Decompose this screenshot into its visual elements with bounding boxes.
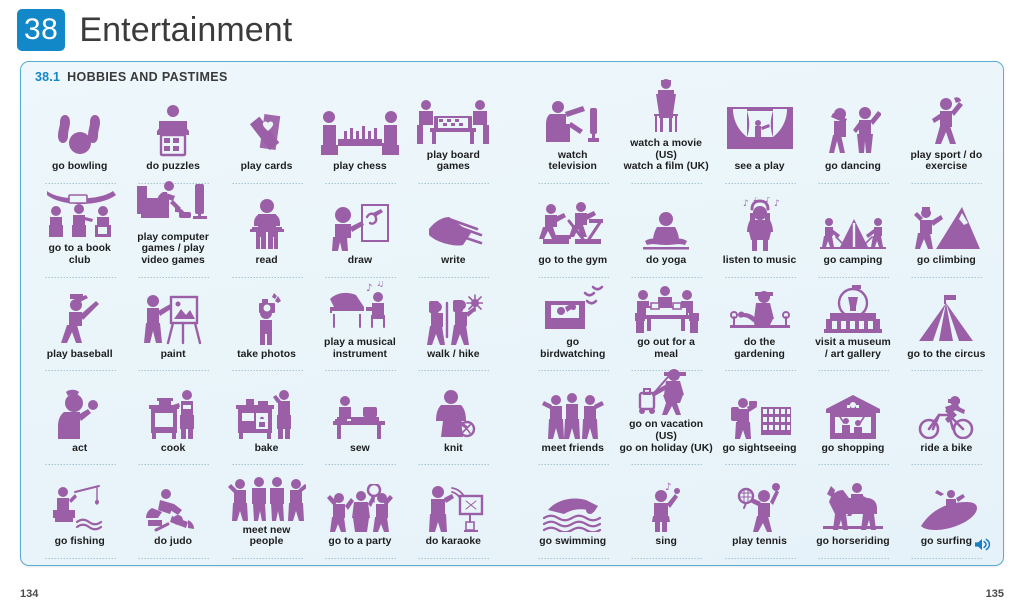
computer-games-icon [126, 178, 219, 228]
pictogram-label: do judo [154, 536, 192, 548]
pictogram-item[interactable]: play boardgames [407, 92, 500, 186]
pictogram-item[interactable]: go horseriding [806, 467, 899, 561]
pictogram-label: read [255, 255, 277, 267]
painting-icon [126, 289, 219, 345]
pictogram-label: watch a movie (US)watch a film (UK) [619, 138, 712, 173]
pictogram-label: go bowling [52, 161, 107, 173]
pictogram-item[interactable]: see a play [713, 92, 806, 186]
pictogram-label: play sport / doexercise [910, 150, 982, 173]
pictogram-label: take photos [237, 349, 296, 361]
svg-text:♪: ♪ [765, 197, 770, 204]
pictogram-label: go shopping [822, 443, 885, 455]
shopping-icon [806, 383, 899, 439]
climbing-icon [900, 195, 993, 251]
svg-text:♫: ♫ [376, 281, 384, 289]
theatre-icon [713, 101, 806, 157]
page-number-left: 134 [20, 588, 38, 600]
restaurant-icon [619, 280, 712, 334]
pictogram-item[interactable]: go to the gym [526, 186, 619, 280]
pictogram-item[interactable]: go dancing [806, 92, 899, 186]
pictogram-label: watchtelevision [549, 150, 597, 173]
pictogram-item[interactable]: watchtelevision [526, 92, 619, 186]
pictogram-label: ride a bike [920, 443, 972, 455]
listen-music-icon: ♪♪♪♪ [713, 195, 806, 251]
svg-text:♪: ♪ [743, 199, 749, 209]
sightseeing-icon [713, 383, 806, 439]
speaker-icon[interactable] [974, 537, 991, 557]
photography-icon [220, 289, 313, 345]
pictogram-row: go fishingdo judomeet newpeoplego to a p… [33, 467, 993, 561]
item-separator [137, 370, 209, 371]
pictogram-item[interactable]: draw [313, 186, 406, 280]
pictogram-label: paint [161, 349, 186, 361]
playing-cards-icon [220, 101, 313, 157]
item-separator [537, 464, 609, 465]
tennis-icon [713, 476, 806, 532]
svg-text:♪: ♪ [774, 199, 780, 209]
knitting-icon [407, 383, 500, 439]
pictogram-item[interactable]: go camping [806, 186, 899, 280]
unit-number-badge: 38 [17, 9, 65, 51]
pictogram-item[interactable]: go bowling [33, 92, 126, 186]
pictogram-label: go swimming [539, 536, 606, 548]
pictogram-item[interactable]: play cards [220, 92, 313, 186]
item-separator [817, 464, 889, 465]
section-number: 38.1 [35, 70, 60, 84]
pictogram-label: go to a party [328, 536, 391, 548]
item-separator [910, 183, 982, 184]
item-separator [417, 183, 489, 184]
karaoke-icon [407, 476, 500, 532]
baking-icon [220, 383, 313, 439]
pictogram-item[interactable]: go climbing [900, 186, 993, 280]
pictogram-item[interactable]: go fishing [33, 467, 126, 561]
item-separator [231, 370, 303, 371]
page-header: 38 Entertainment [17, 6, 292, 54]
pictogram-item[interactable]: do karaoke [407, 467, 500, 561]
pictogram-item[interactable]: meet friends [526, 373, 619, 467]
item-separator [137, 464, 209, 465]
pictogram-row: play baseballpainttake photos♪♫play a mu… [33, 280, 993, 374]
item-separator [231, 558, 303, 559]
item-separator [724, 370, 796, 371]
pictogram-row: actcookbakesewknitmeet friendsgo on vaca… [33, 373, 993, 467]
fishing-icon [33, 476, 126, 532]
pictogram-item[interactable]: do yoga [619, 186, 712, 280]
pictogram-item[interactable]: play tennis [713, 467, 806, 561]
item-separator [910, 464, 982, 465]
board-games-icon [407, 92, 500, 146]
hiking-icon [407, 289, 500, 345]
item-separator [417, 464, 489, 465]
surfing-icon [900, 476, 993, 532]
yoga-icon [619, 195, 712, 251]
sewing-icon [313, 383, 406, 439]
item-separator [537, 558, 609, 559]
item-separator [724, 183, 796, 184]
item-separator [324, 183, 396, 184]
pictogram-row: go bowlingdo puzzlesplay cardsplay chess… [33, 92, 993, 186]
pictogram-item[interactable]: do judo [126, 467, 219, 561]
page-number-right: 135 [986, 588, 1004, 600]
exercise-icon [900, 92, 993, 146]
item-separator [817, 183, 889, 184]
birdwatching-icon [526, 280, 619, 334]
puzzle-icon [126, 101, 219, 157]
meet-people-icon [220, 467, 313, 521]
item-separator [324, 464, 396, 465]
pictogram-label: play computergames / playvideo games [137, 232, 209, 267]
pictogram-label: see a play [734, 161, 784, 173]
pictogram-item[interactable]: go sightseeing [713, 373, 806, 467]
pictogram-item[interactable]: read [220, 186, 313, 280]
circus-icon [900, 289, 993, 345]
writing-icon [407, 195, 500, 251]
friends-icon [526, 383, 619, 439]
gardening-icon [713, 280, 806, 334]
pictogram-item[interactable]: watch a movie (US)watch a film (UK) [619, 92, 712, 186]
judo-icon [126, 476, 219, 532]
gym-icon [526, 195, 619, 251]
pictogram-label: listen to music [723, 255, 797, 267]
item-separator [137, 277, 209, 278]
pictogram-label: gobirdwatching [540, 337, 605, 360]
section-panel: 38.1 HOBBIES AND PASTIMES go bowlingdo p… [20, 61, 1004, 566]
svg-text:♪: ♪ [753, 197, 758, 203]
item-separator [630, 464, 702, 465]
pictogram-item[interactable]: go swimming [526, 467, 619, 561]
pictogram-label: play tennis [732, 536, 787, 548]
bowling-icon [33, 101, 126, 157]
item-separator [324, 277, 396, 278]
section-title: HOBBIES AND PASTIMES [67, 70, 228, 84]
pictogram-label: knit [444, 443, 463, 455]
pictogram-item[interactable]: go to a party [313, 467, 406, 561]
pictogram-label: go to the gym [538, 255, 607, 267]
item-separator [817, 558, 889, 559]
cycling-icon [900, 383, 993, 439]
item-separator [537, 183, 609, 184]
piano-icon: ♪♫ [313, 280, 406, 334]
pictogram-item[interactable]: go on vacation (US)go on holiday (UK) [619, 373, 712, 467]
pictogram-grid: go bowlingdo puzzlesplay cardsplay chess… [33, 92, 993, 561]
pictogram-item[interactable]: go shopping [806, 373, 899, 467]
pictogram-label: do karaoke [426, 536, 481, 548]
horseriding-icon [806, 476, 899, 532]
pictogram-item[interactable]: do thegardening [713, 280, 806, 374]
television-icon [526, 92, 619, 146]
pictogram-label: draw [348, 255, 372, 267]
pictogram-item[interactable]: play sport / doexercise [900, 92, 993, 186]
pictogram-item[interactable]: bake [220, 373, 313, 467]
item-separator [417, 370, 489, 371]
pictogram-label: go on vacation (US)go on holiday (UK) [619, 419, 712, 454]
pictogram-label: write [441, 255, 466, 267]
pictogram-label: play chess [333, 161, 387, 173]
item-separator [417, 277, 489, 278]
section-header: 38.1 HOBBIES AND PASTIMES [35, 70, 228, 84]
swimming-icon [526, 476, 619, 532]
item-separator [537, 277, 609, 278]
camping-icon [806, 195, 899, 251]
item-separator [44, 558, 116, 559]
item-separator [910, 370, 982, 371]
reading-icon [220, 195, 313, 251]
pictogram-label: go climbing [917, 255, 976, 267]
item-separator [910, 277, 982, 278]
pictogram-item[interactable]: meet newpeople [220, 467, 313, 561]
pictogram-item[interactable]: go out for ameal [619, 280, 712, 374]
pictogram-item[interactable]: sew [313, 373, 406, 467]
item-separator [417, 558, 489, 559]
item-separator [537, 370, 609, 371]
chess-icon [313, 101, 406, 157]
page-title: Entertainment [79, 11, 292, 50]
pictogram-label: visit a museum/ art gallery [815, 337, 891, 360]
pictogram-label: go dancing [825, 161, 881, 173]
item-separator [324, 558, 396, 559]
drawing-icon [313, 195, 406, 251]
item-separator [630, 558, 702, 559]
pictogram-label: do thegardening [734, 337, 785, 360]
pictogram-item[interactable]: ♪♫play a musicalinstrument [313, 280, 406, 374]
pictogram-item[interactable]: ♪sing [619, 467, 712, 561]
item-separator [137, 558, 209, 559]
cinema-icon [619, 78, 712, 134]
singing-icon: ♪ [619, 476, 712, 532]
pictogram-item[interactable]: knit [407, 373, 500, 467]
pictogram-label: go surfing [921, 536, 972, 548]
pictogram-label: go to a bookclub [49, 243, 111, 266]
item-separator [44, 277, 116, 278]
pictogram-item[interactable]: do puzzles [126, 92, 219, 186]
pictogram-label: meet newpeople [243, 525, 291, 548]
pictogram-item[interactable]: go to a bookclub [33, 186, 126, 280]
book-club-icon [33, 185, 126, 239]
pictogram-item[interactable]: cook [126, 373, 219, 467]
svg-text:♪: ♪ [366, 283, 372, 294]
pictogram-item[interactable]: play baseball [33, 280, 126, 374]
pictogram-label: act [72, 443, 87, 455]
pictogram-label: play boardgames [427, 150, 480, 173]
pictogram-label: play cards [241, 161, 293, 173]
pictogram-label: bake [255, 443, 279, 455]
item-separator [724, 277, 796, 278]
pictogram-label: walk / hike [427, 349, 480, 361]
pictogram-item[interactable]: walk / hike [407, 280, 500, 374]
pictogram-label: sew [350, 443, 370, 455]
item-separator [44, 464, 116, 465]
cooking-icon [126, 383, 219, 439]
item-separator [724, 558, 796, 559]
pictogram-item[interactable]: visit a museum/ art gallery [806, 280, 899, 374]
item-separator [630, 183, 702, 184]
pictogram-item[interactable]: go to the circus [900, 280, 993, 374]
pictogram-row: go to a bookclubplay computergames / pla… [33, 186, 993, 280]
pictogram-item[interactable]: act [33, 373, 126, 467]
item-separator [910, 558, 982, 559]
item-separator [630, 277, 702, 278]
pictogram-item[interactable]: write [407, 186, 500, 280]
item-separator [817, 277, 889, 278]
item-separator [724, 464, 796, 465]
party-icon [313, 476, 406, 532]
pictogram-item[interactable]: gobirdwatching [526, 280, 619, 374]
pictogram-label: go to the circus [907, 349, 985, 361]
pictogram-label: go fishing [55, 536, 105, 548]
pictogram-label: meet friends [542, 443, 604, 455]
item-separator [44, 370, 116, 371]
pictogram-label: do yoga [646, 255, 686, 267]
pictogram-label: go horseriding [816, 536, 889, 548]
acting-icon [33, 383, 126, 439]
pictogram-item[interactable]: play chess [313, 92, 406, 186]
pictogram-item[interactable]: take photos [220, 280, 313, 374]
item-separator [817, 370, 889, 371]
item-separator [231, 464, 303, 465]
item-separator [324, 370, 396, 371]
pictogram-label: cook [161, 443, 185, 455]
pictogram-label: play a musicalinstrument [324, 337, 396, 360]
pictogram-item[interactable]: ride a bike [900, 373, 993, 467]
museum-icon [806, 280, 899, 334]
pictogram-item[interactable]: play computergames / playvideo games [126, 186, 219, 280]
pictogram-label: go camping [824, 255, 883, 267]
pictogram-item[interactable]: ♪♪♪♪listen to music [713, 186, 806, 280]
pictogram-label: go sightseeing [723, 443, 797, 455]
pictogram-label: play baseball [47, 349, 113, 361]
item-separator [44, 183, 116, 184]
svg-text:♪: ♪ [665, 482, 671, 493]
pictogram-label: do puzzles [146, 161, 200, 173]
baseball-icon [33, 289, 126, 345]
pictogram-label: sing [655, 536, 677, 548]
textbook-page: 38 Entertainment 38.1 HOBBIES AND PASTIM… [0, 0, 1024, 612]
item-separator [231, 277, 303, 278]
pictogram-label: go out for ameal [637, 337, 695, 360]
vacation-icon [619, 363, 712, 415]
dancing-icon [806, 101, 899, 157]
item-separator [231, 183, 303, 184]
pictogram-item[interactable]: paint [126, 280, 219, 374]
